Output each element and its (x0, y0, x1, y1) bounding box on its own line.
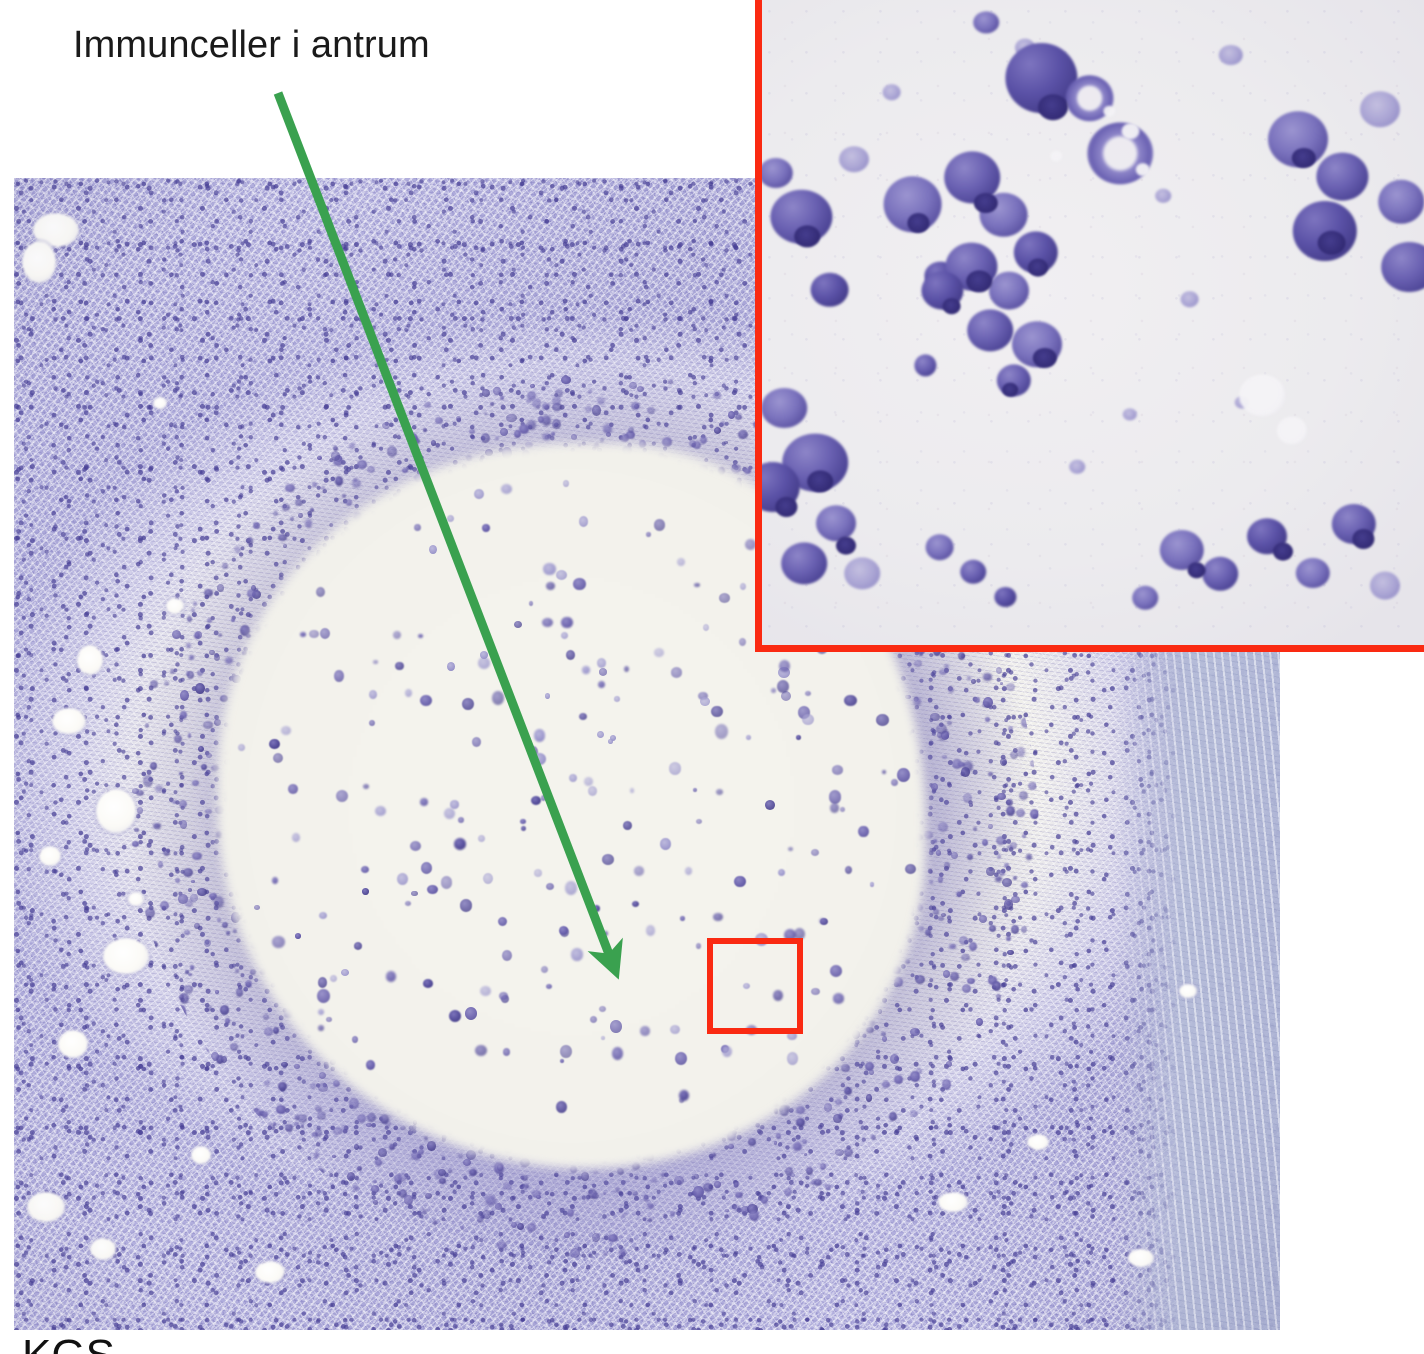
vacuole (1050, 151, 1062, 162)
leukocyte (915, 354, 937, 376)
cell-nucleus (794, 225, 820, 247)
leukocyte (960, 560, 986, 584)
cell-nucleus (1033, 348, 1057, 368)
footer-text: KGS (22, 1330, 115, 1354)
magnified-inset-panel (755, 0, 1424, 652)
cell-nucleus (775, 497, 797, 517)
leukocyte (883, 85, 901, 101)
cell-nucleus (942, 298, 960, 314)
cell-nucleus (1317, 231, 1345, 255)
cell-nucleus (1038, 95, 1068, 121)
vacuole (1239, 374, 1285, 416)
leukocyte (1069, 460, 1085, 474)
cell-nucleus (908, 213, 930, 233)
page-title: Immunceller i antrum (73, 22, 430, 68)
cell-nucleus (1292, 148, 1316, 168)
leukocyte (816, 505, 856, 541)
leukocyte (1360, 92, 1400, 128)
cell-nucleus (1273, 543, 1293, 561)
leukocyte (994, 587, 1016, 607)
slide-canvas: Immunceller i antrum KGS (0, 0, 1424, 1354)
cell-nucleus (807, 470, 833, 492)
leukocyte (781, 542, 827, 584)
cell-nucleus (974, 193, 998, 213)
leukocyte (1202, 557, 1238, 591)
leukocyte (810, 273, 848, 307)
leukocyte (761, 388, 807, 428)
leukocyte (1370, 572, 1400, 600)
leukocyte (758, 158, 792, 188)
leukocyte (989, 272, 1029, 310)
vacuole (1277, 417, 1307, 445)
leukocyte (1317, 153, 1369, 201)
leukocyte (926, 534, 954, 560)
leukocyte (967, 309, 1013, 351)
region-of-interest-box (707, 938, 803, 1034)
vacuole (1121, 123, 1139, 139)
cell-nucleus (836, 536, 856, 554)
vacuole (1103, 106, 1115, 117)
cell-nucleus (966, 270, 992, 292)
leukocyte (1295, 558, 1329, 588)
leukocyte (1378, 180, 1424, 224)
leukocyte (1219, 45, 1243, 65)
leukocyte (1122, 409, 1136, 421)
leukocyte (1155, 189, 1171, 203)
cell-nucleus (1002, 382, 1018, 396)
leukocyte (973, 12, 999, 34)
vacuole (1136, 163, 1150, 176)
leukocyte (839, 146, 869, 172)
leukocyte (1181, 291, 1199, 307)
cell-nucleus (1188, 563, 1206, 579)
leukocyte (844, 558, 880, 590)
leukocyte (1132, 586, 1158, 610)
cell-nucleus (1028, 258, 1048, 276)
cell-nucleus (1352, 529, 1374, 549)
